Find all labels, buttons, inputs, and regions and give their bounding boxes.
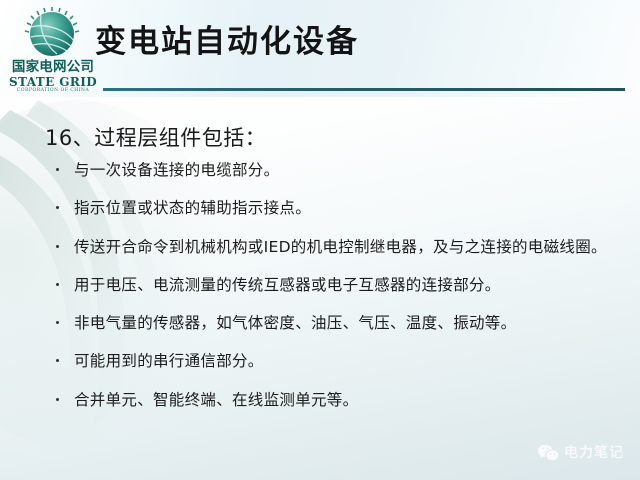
- state-grid-wordmark: 国家电网公司 STATE GRID CORPORATION OF CHINA: [7, 61, 99, 94]
- list-item-text: 指示位置或状态的辅助指示接点。: [74, 197, 612, 220]
- list-item-text: 非电气量的传感器，如气体密度、油压、气压、温度、振动等。: [74, 312, 612, 335]
- list-item: 传送开合命令到机械机构或IED的机电控制继电器，及与之连接的电磁线圈。: [52, 236, 612, 259]
- list-item: 与一次设备连接的电缆部分。: [52, 159, 612, 182]
- bullet-dot-icon: [56, 245, 59, 248]
- bullet-dot-icon: [56, 321, 59, 324]
- logo-company-en: STATE GRID: [7, 76, 99, 88]
- state-grid-logo: 国家电网公司 STATE GRID CORPORATION OF CHINA: [7, 3, 99, 97]
- title-divider: [103, 88, 625, 91]
- state-grid-globe-emblem: [19, 3, 85, 63]
- list-item-text: 可能用到的串行通信部分。: [74, 350, 612, 373]
- section-heading: 16、过程层组件包括：: [45, 122, 266, 152]
- list-item: 指示位置或状态的辅助指示接点。: [52, 197, 612, 220]
- bullet-list: 与一次设备连接的电缆部分。 指示位置或状态的辅助指示接点。 传送开合命令到机械机…: [52, 159, 612, 412]
- list-item: 用于电压、电流测量的传统互感器或电子互感器的连接部分。: [52, 274, 612, 297]
- list-item-text: 用于电压、电流测量的传统互感器或电子互感器的连接部分。: [74, 274, 612, 297]
- list-item: 可能用到的串行通信部分。: [52, 350, 612, 373]
- bullet-dot-icon: [56, 398, 59, 401]
- logo-company-sub: CORPORATION OF CHINA: [7, 89, 99, 94]
- watermark: 电力笔记: [537, 442, 624, 462]
- slide-content: 16、过程层组件包括： 与一次设备连接的电缆部分。 指示位置或状态的辅助指示接点…: [0, 97, 640, 480]
- list-item-text: 与一次设备连接的电缆部分。: [74, 159, 612, 182]
- list-item: 合并单元、智能终端、在线监测单元等。: [52, 389, 612, 412]
- bullet-dot-icon: [56, 359, 59, 362]
- list-item: 非电气量的传感器，如气体密度、油压、气压、温度、振动等。: [52, 312, 612, 335]
- logo-company-cn: 国家电网公司: [7, 61, 99, 75]
- bullet-dot-icon: [56, 168, 59, 171]
- wechat-icon: [537, 444, 559, 461]
- bullet-dot-icon: [56, 206, 59, 209]
- slide: 国家电网公司 STATE GRID CORPORATION OF CHINA 变…: [0, 0, 640, 480]
- list-item-text: 合并单元、智能终端、在线监测单元等。: [74, 389, 612, 412]
- watermark-label: 电力笔记: [564, 442, 624, 462]
- bullet-dot-icon: [56, 283, 59, 286]
- list-item-text: 传送开合命令到机械机构或IED的机电控制继电器，及与之连接的电磁线圈。: [74, 236, 612, 259]
- page-title: 变电站自动化设备: [95, 25, 359, 61]
